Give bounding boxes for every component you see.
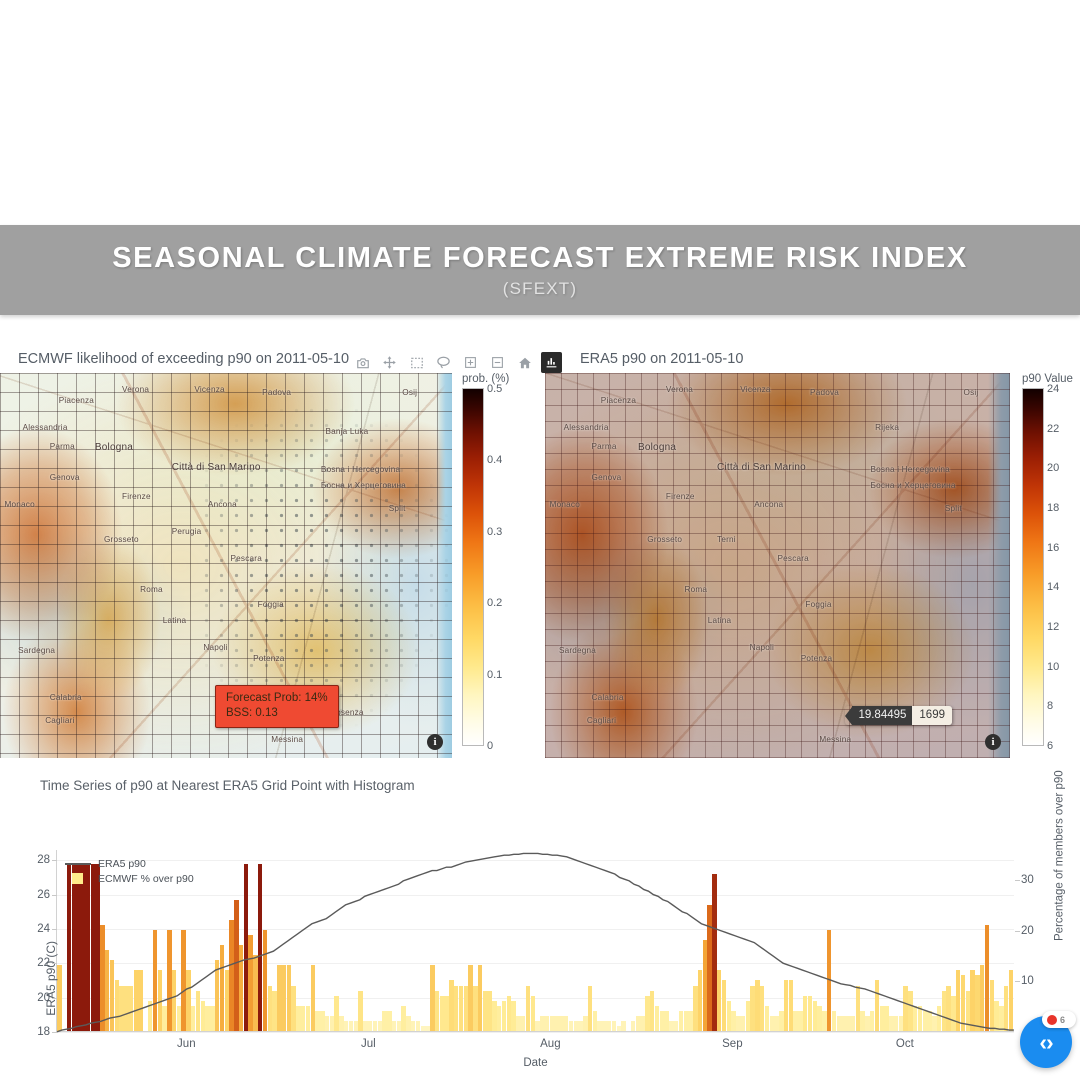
colorbar-tick: 0 — [487, 740, 493, 752]
timeseries-title: Time Series of p90 at Nearest ERA5 Grid … — [0, 778, 1080, 793]
y2-tick-label: 20 — [1021, 925, 1034, 937]
map-city-label: Bosna i Hercegovina — [321, 465, 400, 474]
y2-tick-mark — [1015, 931, 1020, 932]
map-city-label: Calabria — [592, 693, 624, 702]
legend-item-ecmwf: ECMWF % over p90 — [65, 871, 194, 886]
x-tick-label: Oct — [896, 1038, 914, 1050]
y2-tick-label: 30 — [1021, 874, 1034, 886]
map-city-label: Banja Luka — [325, 427, 368, 436]
map-city-label: Città di San Marino — [717, 462, 806, 473]
x-tick-label: Aug — [540, 1038, 560, 1050]
timeseries-era5-line — [57, 850, 1014, 1032]
y2-tick-mark — [1015, 880, 1020, 881]
y-tick-mark — [52, 895, 57, 896]
map-city-label: Osij — [402, 388, 417, 397]
right-map-attribution-icon[interactable]: i — [985, 734, 1001, 750]
y-tick-mark — [52, 929, 57, 930]
download-camera-icon[interactable] — [352, 352, 373, 373]
reset-home-icon[interactable] — [514, 352, 535, 373]
left-colorbar-row: 0.50.40.30.20.10 — [462, 388, 524, 748]
map-city-label: Grosseto — [104, 535, 139, 544]
tooltip-prob: Forecast Prob: 14% — [226, 691, 328, 706]
map-city-label: Genova — [592, 473, 622, 482]
map-city-label: Ancona — [754, 500, 783, 509]
fab-badge: 6 — [1042, 1011, 1076, 1028]
map-city-label: Bologna — [95, 442, 133, 453]
map-city-label: Vicenza — [740, 385, 770, 394]
y-tick-label: 18 — [37, 1026, 50, 1038]
colorbar-tick: 12 — [1047, 621, 1059, 633]
page-title: SEASONAL CLIMATE FORECAST EXTREME RISK I… — [112, 242, 968, 275]
left-map-panel: ECMWF likelihood of exceeding p90 on 201… — [0, 345, 540, 758]
y-tick-label: 24 — [37, 923, 50, 935]
map-city-label: Potenza — [253, 654, 284, 663]
map-city-label: Pescara — [778, 554, 809, 563]
timeseries-y2-axis-label: Percentage of members over p90 — [1054, 770, 1066, 941]
map-city-label: Piacenza — [601, 396, 636, 405]
map-city-label: Foggia — [805, 600, 831, 609]
map-city-label: Parma — [592, 442, 617, 451]
map-city-label: Padova — [262, 388, 291, 397]
map-city-label: Bosna i Hercegovina — [871, 465, 950, 474]
timeseries-plot-area[interactable]: ERA5 p90 ECMWF % over p90 ERA5 p90 (C) P… — [56, 850, 1014, 1032]
colorbar-tick: 22 — [1047, 423, 1059, 435]
y-tick-mark — [52, 963, 57, 964]
map-city-label: Messina — [271, 735, 303, 744]
y-tick-label: 28 — [37, 854, 50, 866]
page-subtitle: (SFEXT) — [503, 279, 578, 299]
map-city-label: Osij — [964, 388, 979, 397]
map-city-label: Bologna — [638, 442, 676, 453]
colorbar-tick: 0.5 — [487, 383, 502, 395]
map-city-label: Alessandria — [564, 423, 609, 432]
colorbar-tick: 24 — [1047, 383, 1059, 395]
map-city-label: Босна и Херцеговина — [321, 481, 406, 490]
map-city-label: Calabria — [50, 693, 82, 702]
legend-item-era5: ERA5 p90 — [65, 856, 194, 871]
left-colorbar-ticks: 0.50.40.30.20.10 — [484, 388, 524, 748]
colorbar-tick: 0.4 — [487, 454, 502, 466]
map-city-label: Cagliari — [45, 716, 74, 725]
zoom-in-icon[interactable] — [460, 352, 481, 373]
legend-line-icon — [65, 863, 91, 865]
map-city-label: Alessandria — [23, 423, 68, 432]
colorbar-tick: 0.3 — [487, 526, 502, 538]
colorbar-tick: 16 — [1047, 542, 1059, 554]
tooltip-bss: BSS: 0.13 — [226, 706, 328, 721]
map-city-label: Firenze — [122, 492, 151, 501]
code-fab-button[interactable]: ‹› 6 — [1020, 1016, 1072, 1068]
p90-value-pill: 19.84495 1699 — [845, 706, 952, 725]
right-colorbar-ticks: 242220181614121086 — [1044, 388, 1080, 748]
map-city-label: Parma — [50, 442, 75, 451]
y2-tick-mark — [1015, 981, 1020, 982]
left-colorbar-gradient — [462, 388, 484, 746]
y-tick-mark — [52, 1032, 57, 1033]
pan-icon[interactable] — [379, 352, 400, 373]
y-tick-label: 26 — [37, 889, 50, 901]
map-city-label: Split — [945, 504, 962, 513]
map-city-label: Genova — [50, 473, 80, 482]
timeseries-y-axis-label: ERA5 p90 (C) — [44, 941, 58, 1016]
map-city-label: Sardegna — [559, 646, 596, 655]
pill-value: 19.84495 — [852, 706, 912, 725]
map-city-label: Città di San Marino — [172, 462, 261, 473]
map-city-label: Napoli — [750, 643, 774, 652]
forecast-tooltip: Forecast Prob: 14% BSS: 0.13 — [215, 685, 339, 728]
timeseries-legend: ERA5 p90 ECMWF % over p90 — [65, 856, 194, 886]
gridline — [57, 1032, 1014, 1033]
legend-square-icon — [72, 873, 83, 884]
timeseries-x-axis-label: Date — [523, 1057, 547, 1069]
map-city-label: Sardegna — [18, 646, 55, 655]
map-city-label: Monaco — [550, 500, 580, 509]
colorbar-tick: 10 — [1047, 661, 1059, 673]
pill-arrow-icon — [845, 707, 852, 725]
colorbar-tick: 14 — [1047, 581, 1059, 593]
colorbar-tick: 0.2 — [487, 597, 502, 609]
x-tick-label: Jul — [361, 1038, 376, 1050]
right-colorbar-gradient — [1022, 388, 1044, 746]
pill-secondary: 1699 — [912, 706, 952, 725]
app-root: SEASONAL CLIMATE FORECAST EXTREME RISK I… — [0, 0, 1080, 1080]
y2-tick-label: 10 — [1021, 975, 1034, 987]
map-city-label: Piacenza — [59, 396, 94, 405]
colorbar-tick: 0.1 — [487, 669, 502, 681]
colorbar-tick: 8 — [1047, 700, 1053, 712]
x-tick-label: Jun — [177, 1038, 196, 1050]
left-colorbar: prob. (%) 0.50.40.30.20.10 — [462, 373, 524, 748]
map-city-label: Split — [389, 504, 406, 513]
colorbar-tick: 18 — [1047, 502, 1059, 514]
y-tick-label: 22 — [37, 957, 50, 969]
map-city-label: Latina — [708, 616, 732, 625]
right-map-canvas[interactable]: PiacenzaVeronaVicenzaPadovaOsijAlessandr… — [545, 373, 1010, 758]
right-map-panel: ERA5 p90 on 2011-05-10 PiacenzaVeronaVic… — [545, 345, 1080, 758]
y-tick-mark — [52, 998, 57, 999]
left-map-canvas[interactable]: PiacenzaVeronaVicenzaPadovaOsijAlessandr… — [0, 373, 452, 758]
map-city-label: Perugia — [172, 527, 202, 536]
right-colorbar: p90 Value 242220181614121086 — [1022, 373, 1080, 748]
map-city-label: Verona — [122, 385, 149, 394]
fab-dot-icon — [1047, 1015, 1057, 1025]
map-city-label: Grosseto — [647, 535, 682, 544]
box-select-icon[interactable] — [406, 352, 427, 373]
y-tick-mark — [52, 860, 57, 861]
map-city-label: Latina — [163, 616, 187, 625]
right-map-title: ERA5 p90 on 2011-05-10 — [545, 345, 1080, 373]
legend-label-ecmwf: ECMWF % over p90 — [98, 873, 194, 885]
map-city-label: Vicenza — [194, 385, 224, 394]
colorbar-tick: 20 — [1047, 462, 1059, 474]
map-city-label: Verona — [666, 385, 693, 394]
timeseries-panel: Time Series of p90 at Nearest ERA5 Grid … — [0, 778, 1080, 1080]
map-city-label: Босна и Херцеговина — [871, 481, 956, 490]
map-city-label: Ancona — [208, 500, 237, 509]
plot-modebar — [352, 352, 562, 373]
map-city-label: Pescara — [231, 554, 262, 563]
fab-badge-count: 6 — [1060, 1015, 1064, 1025]
right-colorbar-row: 242220181614121086 — [1022, 388, 1080, 748]
map-city-label: Roma — [685, 585, 708, 594]
zoom-out-icon[interactable] — [487, 352, 508, 373]
map-city-label: Cagliari — [587, 716, 616, 725]
map-city-label: Monaco — [5, 500, 35, 509]
map-city-label: Rijeka — [875, 423, 899, 432]
map-city-label: Messina — [819, 735, 851, 744]
map-city-label: Firenze — [666, 492, 695, 501]
legend-label-era5: ERA5 p90 — [98, 858, 146, 870]
map-city-label: Potenza — [801, 654, 832, 663]
map-city-label: Napoli — [203, 643, 227, 652]
x-tick-label: Sep — [722, 1038, 742, 1050]
map-city-label: Padova — [810, 388, 839, 397]
map-city-label: Roma — [140, 585, 163, 594]
code-icon: ‹› — [1039, 1029, 1052, 1056]
page-banner: SEASONAL CLIMATE FORECAST EXTREME RISK I… — [0, 225, 1080, 315]
y-tick-label: 20 — [37, 992, 50, 1004]
lasso-select-icon[interactable] — [433, 352, 454, 373]
map-city-label: Foggia — [258, 600, 284, 609]
colorbar-tick: 6 — [1047, 740, 1053, 752]
map-city-label: Terni — [717, 535, 736, 544]
left-map-attribution-icon[interactable]: i — [427, 734, 443, 750]
